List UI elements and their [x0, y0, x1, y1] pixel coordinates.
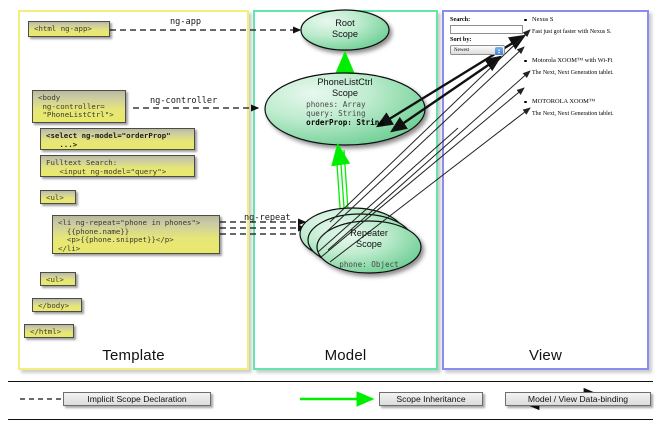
- edge-label-ng-controller: ng-controller: [150, 96, 217, 106]
- view-mockup: Search: Sort by: Newest Nexus S Fast jus…: [450, 16, 642, 126]
- chevron-updown-icon: [495, 47, 503, 55]
- sort-by-selected-value: Newest: [454, 48, 469, 53]
- phone-name: MOTOROLA XOOM™: [532, 98, 647, 105]
- legend-item-implicit-scope-declaration: Implicit Scope Declaration: [63, 392, 211, 406]
- phone-snippet: Fast just got faster with Nexus S.: [532, 29, 647, 35]
- code-box-body-tag: <body ng-controller= "PhoneListCtrl">: [32, 90, 126, 123]
- sort-by-select[interactable]: Newest: [450, 45, 505, 55]
- panel-view-label: View: [444, 347, 647, 364]
- list-item[interactable]: Motorola XOOM™ with Wi-Fi The Next, Next…: [532, 57, 647, 76]
- phone-name: Motorola XOOM™ with Wi-Fi: [532, 57, 647, 64]
- diagram-canvas: Template Model View: [0, 0, 661, 425]
- legend-item-model-view-data-binding: Model / View Data-binding: [505, 392, 651, 406]
- phone-name: Nexus S: [532, 16, 647, 23]
- code-box-ul-close: <ul>: [40, 272, 76, 286]
- code-box-html-tag: <html ng-app>: [28, 21, 110, 37]
- code-box-select-tag: <select ng-model="orderProp" ...>: [40, 128, 195, 150]
- legend-divider-top: [8, 381, 653, 382]
- list-item[interactable]: Nexus S Fast just got faster with Nexus …: [532, 16, 647, 35]
- legend-item-scope-inheritance: Scope Inheritance: [379, 392, 483, 406]
- search-label: Search:: [450, 16, 470, 24]
- sort-by-label: Sort by:: [450, 36, 471, 44]
- search-input[interactable]: [450, 25, 523, 34]
- legend-divider-bottom: [8, 419, 653, 420]
- bullet-icon: [524, 19, 527, 22]
- edge-label-ng-app: ng-app: [170, 17, 201, 27]
- code-box-html-close: </html>: [24, 324, 74, 338]
- code-box-input-tag: Fulltext Search: <input ng-model="query"…: [40, 155, 195, 177]
- code-box-ul-open: <ul>: [40, 190, 76, 204]
- code-box-body-close: </body>: [32, 298, 82, 312]
- phone-snippet: The Next, Next Generation tablet.: [532, 111, 647, 117]
- panel-template-label: Template: [20, 347, 247, 364]
- code-box-li-repeat: <li ng-repeat="phone in phones"> {{phone…: [52, 215, 220, 254]
- phone-snippet: The Next, Next Generation tablet.: [532, 70, 647, 76]
- edge-label-ng-repeat: ng-repeat: [244, 213, 291, 223]
- list-item[interactable]: MOTOROLA XOOM™ The Next, Next Generation…: [532, 98, 647, 117]
- panel-model-label: Model: [255, 347, 436, 364]
- bullet-icon: [524, 60, 527, 63]
- panel-model: Model: [253, 10, 438, 370]
- bullet-icon: [524, 101, 527, 104]
